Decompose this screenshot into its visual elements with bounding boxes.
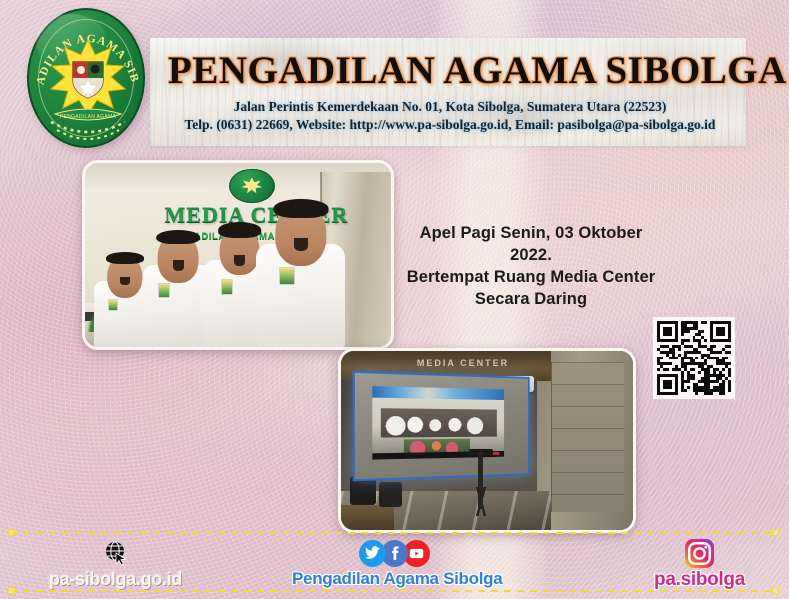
photo2-wall-sign: MEDIA CENTER bbox=[417, 358, 509, 368]
photo1-person bbox=[256, 203, 345, 347]
event-line-3: Secara Daring bbox=[400, 288, 662, 310]
photo1-person-badge bbox=[108, 299, 118, 311]
poster-canvas: PENGADILAN AGAMA SIBOLGA PENGADILAN AGAM… bbox=[0, 0, 789, 599]
event-line-2: Bertempat Ruang Media Center bbox=[400, 266, 662, 288]
photo1-person-badge bbox=[221, 279, 233, 295]
qr-code[interactable] bbox=[653, 317, 735, 399]
photo1-wall-logo-icon bbox=[229, 169, 275, 204]
divider-top bbox=[10, 531, 780, 534]
address-line-1: Jalan Perintis Kemerdekaan No. 01, Kota … bbox=[160, 99, 740, 115]
photo2-video-participants bbox=[380, 408, 496, 437]
footer-instagram-label: pa.sibolga bbox=[612, 569, 787, 591]
court-seal-icon: PENGADILAN AGAMA SIBOLGA PENGADILAN AGAM… bbox=[27, 8, 145, 148]
photo1-person-hair bbox=[106, 252, 144, 264]
divider-corner bbox=[8, 529, 15, 536]
twitter-icon[interactable] bbox=[359, 540, 386, 567]
footer-social-label: Pengadilan Agama Sibolga bbox=[292, 569, 497, 589]
event-description: Apel Pagi Senin, 03 Oktober 2022. Bertem… bbox=[400, 222, 662, 310]
photo2-video-thumbnails bbox=[372, 386, 504, 400]
photo1-person-badge bbox=[158, 283, 170, 298]
qr-code-matrix bbox=[657, 321, 731, 395]
photo1-person-badge bbox=[279, 267, 294, 286]
footer-social[interactable]: Pengadilan Agama Sibolga bbox=[292, 538, 497, 589]
instagram-icon[interactable] bbox=[685, 539, 714, 568]
photo1-person-neck bbox=[234, 255, 245, 266]
footer-website-label: pa-sibolga.go.id bbox=[18, 569, 213, 590]
photo1-person-hair bbox=[157, 230, 201, 245]
footer-social-icon-row bbox=[292, 538, 497, 568]
footer-website[interactable]: pa-sibolga.go.id bbox=[18, 538, 213, 590]
photo2-chair bbox=[379, 482, 402, 507]
divider-corner bbox=[772, 529, 779, 536]
photo1-person-hair bbox=[273, 199, 328, 218]
seal-inner-ring bbox=[38, 19, 135, 137]
footer-website-icon-row bbox=[18, 538, 213, 568]
divider-corner bbox=[8, 587, 15, 594]
photo2-table bbox=[341, 505, 394, 530]
photo1-person bbox=[143, 233, 213, 347]
photo2-tripod-legs bbox=[464, 487, 499, 516]
footer-instagram[interactable]: pa.sibolga bbox=[612, 538, 787, 591]
photo1-person-neck bbox=[294, 238, 308, 251]
photo1-person-hair bbox=[218, 222, 262, 238]
footer-instagram-icon-row bbox=[612, 538, 787, 568]
globe-cursor-icon bbox=[103, 540, 129, 566]
page-title: PENGADILAN AGAMA SIBOLGA bbox=[168, 48, 736, 93]
photo2-panel-lines bbox=[551, 362, 624, 512]
photo-apel-pagi: MEDIA CENTER PENGADILAN AGAMA SIBOLGA bbox=[82, 160, 394, 350]
photo1-person-neck bbox=[120, 277, 130, 285]
photo1-person-neck bbox=[173, 260, 184, 270]
event-line-1: Apel Pagi Senin, 03 Oktober 2022. bbox=[400, 222, 662, 266]
photo-layar-daring: MEDIA CENTER bbox=[338, 348, 636, 533]
address-line-2: Telp. (0631) 22669, Website: http://www.… bbox=[160, 117, 740, 133]
photo2-projection-screen bbox=[352, 371, 529, 481]
